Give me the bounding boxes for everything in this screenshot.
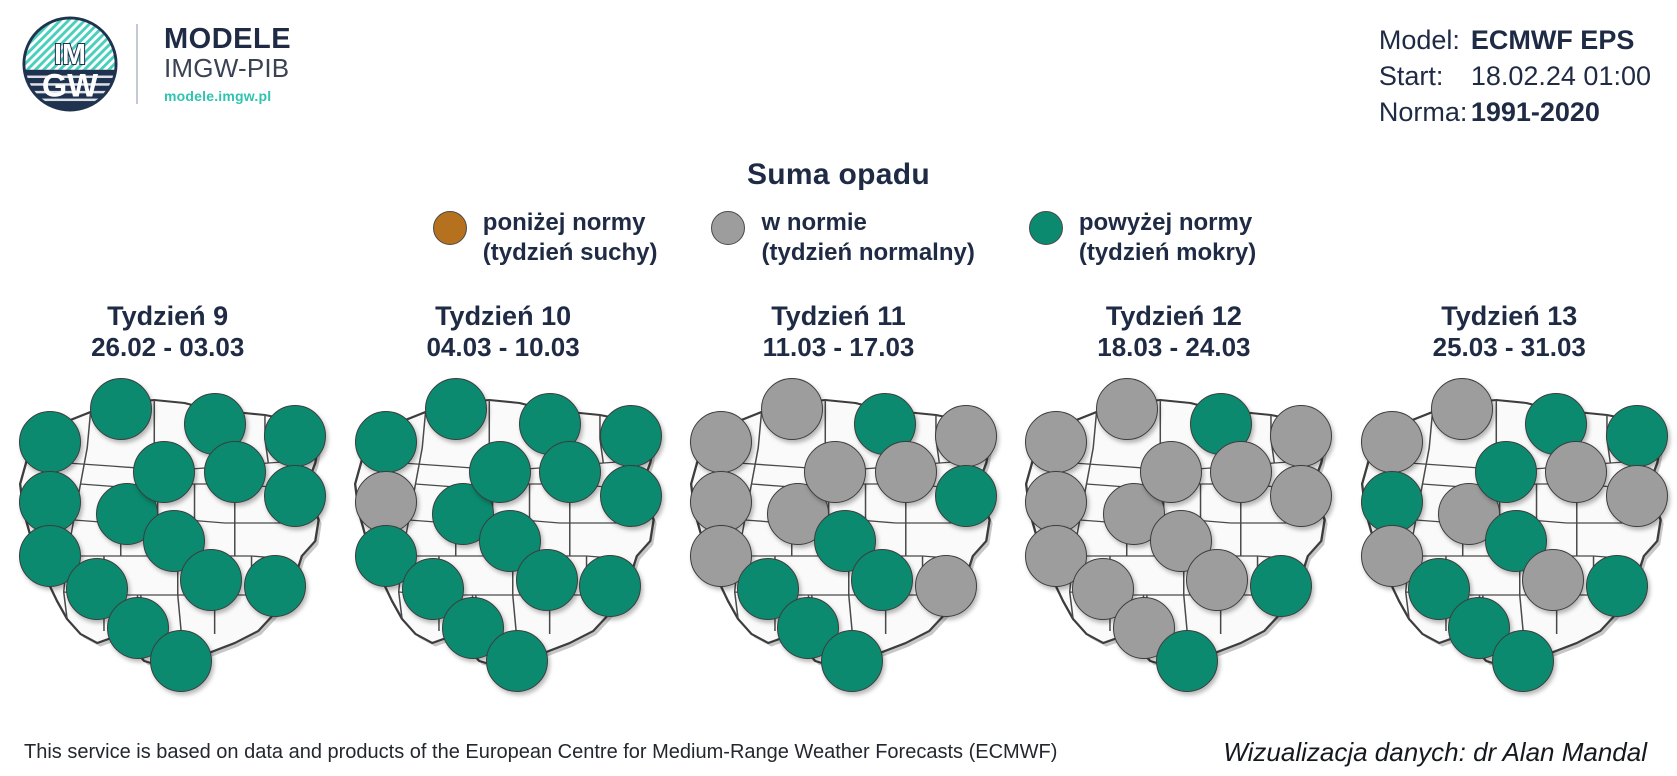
week-panel: Tydzień 1325.03 - 31.03 xyxy=(1342,300,1677,700)
visualization-credit: Wizualizacja danych: dr Alan Mandal xyxy=(1223,737,1647,768)
brand-title: MODELE xyxy=(164,24,291,54)
week-panel: Tydzień 1218.03 - 24.03 xyxy=(1006,300,1341,700)
voivodeship-marker[interactable] xyxy=(90,378,152,440)
voivodeship-marker[interactable] xyxy=(355,411,417,473)
voivodeship-marker[interactable] xyxy=(1431,378,1493,440)
week-panel-title: Tydzień 11 xyxy=(671,300,1006,332)
page-footer: This service is based on data and produc… xyxy=(0,728,1677,776)
start-label: Start: xyxy=(1379,58,1471,94)
start-value: 18.02.24 01:00 xyxy=(1471,58,1651,94)
voivodeship-marker[interactable] xyxy=(516,549,578,611)
voivodeship-marker[interactable] xyxy=(425,378,487,440)
legend-title: Suma opadu xyxy=(0,158,1677,192)
voivodeship-marker[interactable] xyxy=(935,465,997,527)
brand-text-block: MODELE IMGW-PIB modele.imgw.pl xyxy=(136,24,291,104)
voivodeship-marker[interactable] xyxy=(761,378,823,440)
metadata-row-start: Start: 18.02.24 01:00 xyxy=(1379,58,1651,94)
week-panel-title: Tydzień 12 xyxy=(1006,300,1341,332)
poland-map xyxy=(1342,382,1677,682)
voivodeship-marker[interactable] xyxy=(133,441,195,503)
voivodeship-marker[interactable] xyxy=(1140,441,1202,503)
forecast-metadata: Model: ECMWF EPS Start: 18.02.24 01:00 N… xyxy=(1379,22,1651,131)
week-panel-dates: 11.03 - 17.03 xyxy=(671,332,1006,363)
voivodeship-marker[interactable] xyxy=(1210,441,1272,503)
voivodeship-marker[interactable] xyxy=(875,441,937,503)
voivodeship-marker[interactable] xyxy=(915,555,977,617)
week-panel: Tydzień 1111.03 - 17.03 xyxy=(671,300,1006,700)
voivodeship-marker[interactable] xyxy=(1270,405,1332,467)
voivodeship-marker[interactable] xyxy=(1522,549,1584,611)
legend-item-label-line1: powyżej normy xyxy=(1079,208,1256,238)
legend-item: poniżej normy(tydzień suchy) xyxy=(433,208,658,268)
voivodeship-marker[interactable] xyxy=(851,549,913,611)
voivodeship-marker[interactable] xyxy=(1025,411,1087,473)
legend-item-label: poniżej normy(tydzień suchy) xyxy=(483,208,658,268)
brand-url[interactable]: modele.imgw.pl xyxy=(164,88,291,104)
week-panel-title: Tydzień 13 xyxy=(1342,300,1677,332)
week-panel-dates: 18.03 - 24.03 xyxy=(1006,332,1341,363)
voivodeship-marker[interactable] xyxy=(935,405,997,467)
voivodeship-marker[interactable] xyxy=(1361,411,1423,473)
voivodeship-marker[interactable] xyxy=(264,465,326,527)
model-label: Model: xyxy=(1379,22,1471,58)
legend-item-label: w normie(tydzień normalny) xyxy=(761,208,974,268)
voivodeship-marker[interactable] xyxy=(19,411,81,473)
legend-item-label-line2: (tydzień suchy) xyxy=(483,238,658,268)
brand-subtitle: IMGW-PIB xyxy=(164,54,291,84)
voivodeship-marker[interactable] xyxy=(1250,555,1312,617)
norm-label: Norma: xyxy=(1379,94,1471,130)
week-panel-dates: 25.03 - 31.03 xyxy=(1342,332,1677,363)
voivodeship-marker[interactable] xyxy=(690,411,752,473)
voivodeship-marker[interactable] xyxy=(244,555,306,617)
imgw-circle-logo-icon: IM GW xyxy=(22,16,118,112)
voivodeship-marker[interactable] xyxy=(1156,630,1218,692)
week-panel-title: Tydzień 10 xyxy=(335,300,670,332)
legend-items: poniżej normy(tydzień suchy)w normie(tyd… xyxy=(0,208,1677,268)
legend-item-label-line1: w normie xyxy=(761,208,974,238)
week-panel-title: Tydzień 9 xyxy=(0,300,335,332)
voivodeship-marker[interactable] xyxy=(150,630,212,692)
voivodeship-marker[interactable] xyxy=(1475,441,1537,503)
voivodeship-marker[interactable] xyxy=(804,441,866,503)
voivodeship-marker[interactable] xyxy=(486,630,548,692)
weekly-map-panels: Tydzień 926.02 - 03.03Tydzień 1004.03 - … xyxy=(0,300,1677,700)
voivodeship-marker[interactable] xyxy=(579,555,641,617)
metadata-row-norm: Norma: 1991-2020 xyxy=(1379,94,1651,130)
legend-dot-normal xyxy=(711,211,745,245)
week-panel-dates: 04.03 - 10.03 xyxy=(335,332,670,363)
voivodeship-marker[interactable] xyxy=(204,441,266,503)
voivodeship-marker[interactable] xyxy=(821,630,883,692)
norm-value: 1991-2020 xyxy=(1471,94,1600,130)
legend-item-label-line2: (tydzień mokry) xyxy=(1079,238,1256,268)
voivodeship-marker[interactable] xyxy=(1492,630,1554,692)
legend-item: w normie(tydzień normalny) xyxy=(711,208,974,268)
voivodeship-marker[interactable] xyxy=(180,549,242,611)
voivodeship-marker[interactable] xyxy=(1606,465,1668,527)
poland-map xyxy=(1006,382,1341,682)
voivodeship-marker[interactable] xyxy=(1270,465,1332,527)
poland-map xyxy=(335,382,670,682)
legend-item: powyżej normy(tydzień mokry) xyxy=(1029,208,1256,268)
voivodeship-marker[interactable] xyxy=(1025,471,1087,533)
page-header: IM GW MODELE IMGW-PIB modele.imgw.pl Mod… xyxy=(0,0,1677,145)
voivodeship-marker[interactable] xyxy=(264,405,326,467)
svg-text:GW: GW xyxy=(42,67,98,104)
voivodeship-marker[interactable] xyxy=(355,471,417,533)
voivodeship-marker[interactable] xyxy=(1545,441,1607,503)
voivodeship-marker[interactable] xyxy=(1586,555,1648,617)
voivodeship-marker[interactable] xyxy=(539,441,601,503)
week-panel: Tydzień 926.02 - 03.03 xyxy=(0,300,335,700)
week-panel: Tydzień 1004.03 - 10.03 xyxy=(335,300,670,700)
poland-map xyxy=(0,382,335,682)
voivodeship-marker[interactable] xyxy=(1186,549,1248,611)
voivodeship-marker[interactable] xyxy=(1096,378,1158,440)
voivodeship-marker[interactable] xyxy=(19,471,81,533)
voivodeship-marker[interactable] xyxy=(1606,405,1668,467)
model-value: ECMWF EPS xyxy=(1471,22,1635,58)
voivodeship-marker[interactable] xyxy=(600,465,662,527)
legend-dot-above-normal xyxy=(1029,211,1063,245)
legend: Suma opadu poniżej normy(tydzień suchy)w… xyxy=(0,158,1677,268)
week-panel-dates: 26.02 - 03.03 xyxy=(0,332,335,363)
poland-map xyxy=(671,382,1006,682)
brand-logo-block: IM GW MODELE IMGW-PIB modele.imgw.pl xyxy=(22,16,291,112)
ecmwf-attribution: This service is based on data and produc… xyxy=(24,741,1057,764)
legend-item-label-line2: (tydzień normalny) xyxy=(761,238,974,268)
voivodeship-marker[interactable] xyxy=(469,441,531,503)
legend-item-label-line1: poniżej normy xyxy=(483,208,658,238)
legend-item-label: powyżej normy(tydzień mokry) xyxy=(1079,208,1256,268)
metadata-row-model: Model: ECMWF EPS xyxy=(1379,22,1651,58)
legend-dot-below-normal xyxy=(433,211,467,245)
voivodeship-marker[interactable] xyxy=(1361,471,1423,533)
voivodeship-marker[interactable] xyxy=(690,471,752,533)
voivodeship-marker[interactable] xyxy=(600,405,662,467)
